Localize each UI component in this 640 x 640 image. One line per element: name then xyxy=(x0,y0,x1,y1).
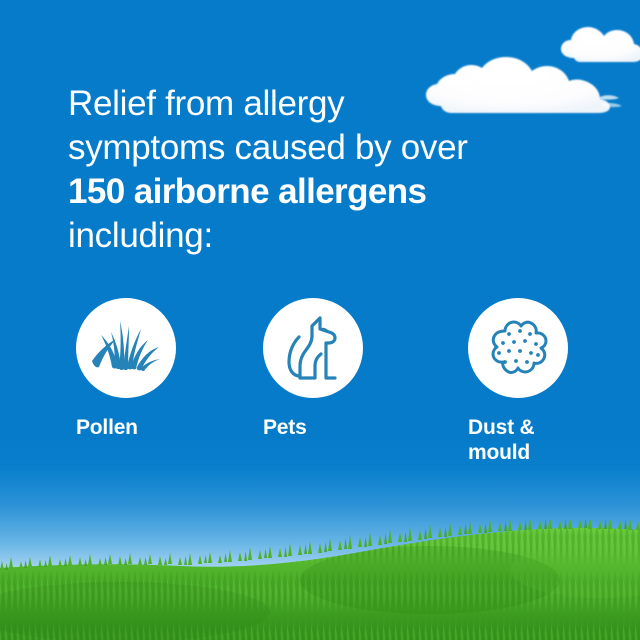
headline-line-2: symptoms caused by over xyxy=(68,126,588,170)
grass-icon xyxy=(89,315,163,381)
cat-icon xyxy=(282,312,344,384)
allergen-label-pollen: Pollen xyxy=(76,415,236,440)
pets-icon-circle xyxy=(263,298,363,398)
cloud-small xyxy=(561,27,640,62)
headline-line-3-bold: 150 airborne allergens xyxy=(68,170,588,214)
dust-mould-icon-circle xyxy=(468,298,568,398)
headline: Relief from allergy symptoms caused by o… xyxy=(68,82,588,258)
allergen-item-dust-mould[interactable]: Dust & mould xyxy=(468,298,628,465)
headline-line-1: Relief from allergy xyxy=(68,82,588,126)
headline-line-4: including: xyxy=(68,214,588,258)
allergen-label-pets: Pets xyxy=(263,415,423,440)
grass-field xyxy=(0,520,640,640)
allergy-relief-poster: Relief from allergy symptoms caused by o… xyxy=(0,0,640,640)
allergen-icon-row: Pollen Pets xyxy=(0,298,640,498)
allergen-item-pollen[interactable]: Pollen xyxy=(76,298,236,440)
allergen-item-pets[interactable]: Pets xyxy=(263,298,423,440)
allergen-label-dust-mould: Dust & mould xyxy=(468,415,628,465)
pollen-icon-circle xyxy=(76,298,176,398)
dust-mite-icon xyxy=(485,318,551,378)
